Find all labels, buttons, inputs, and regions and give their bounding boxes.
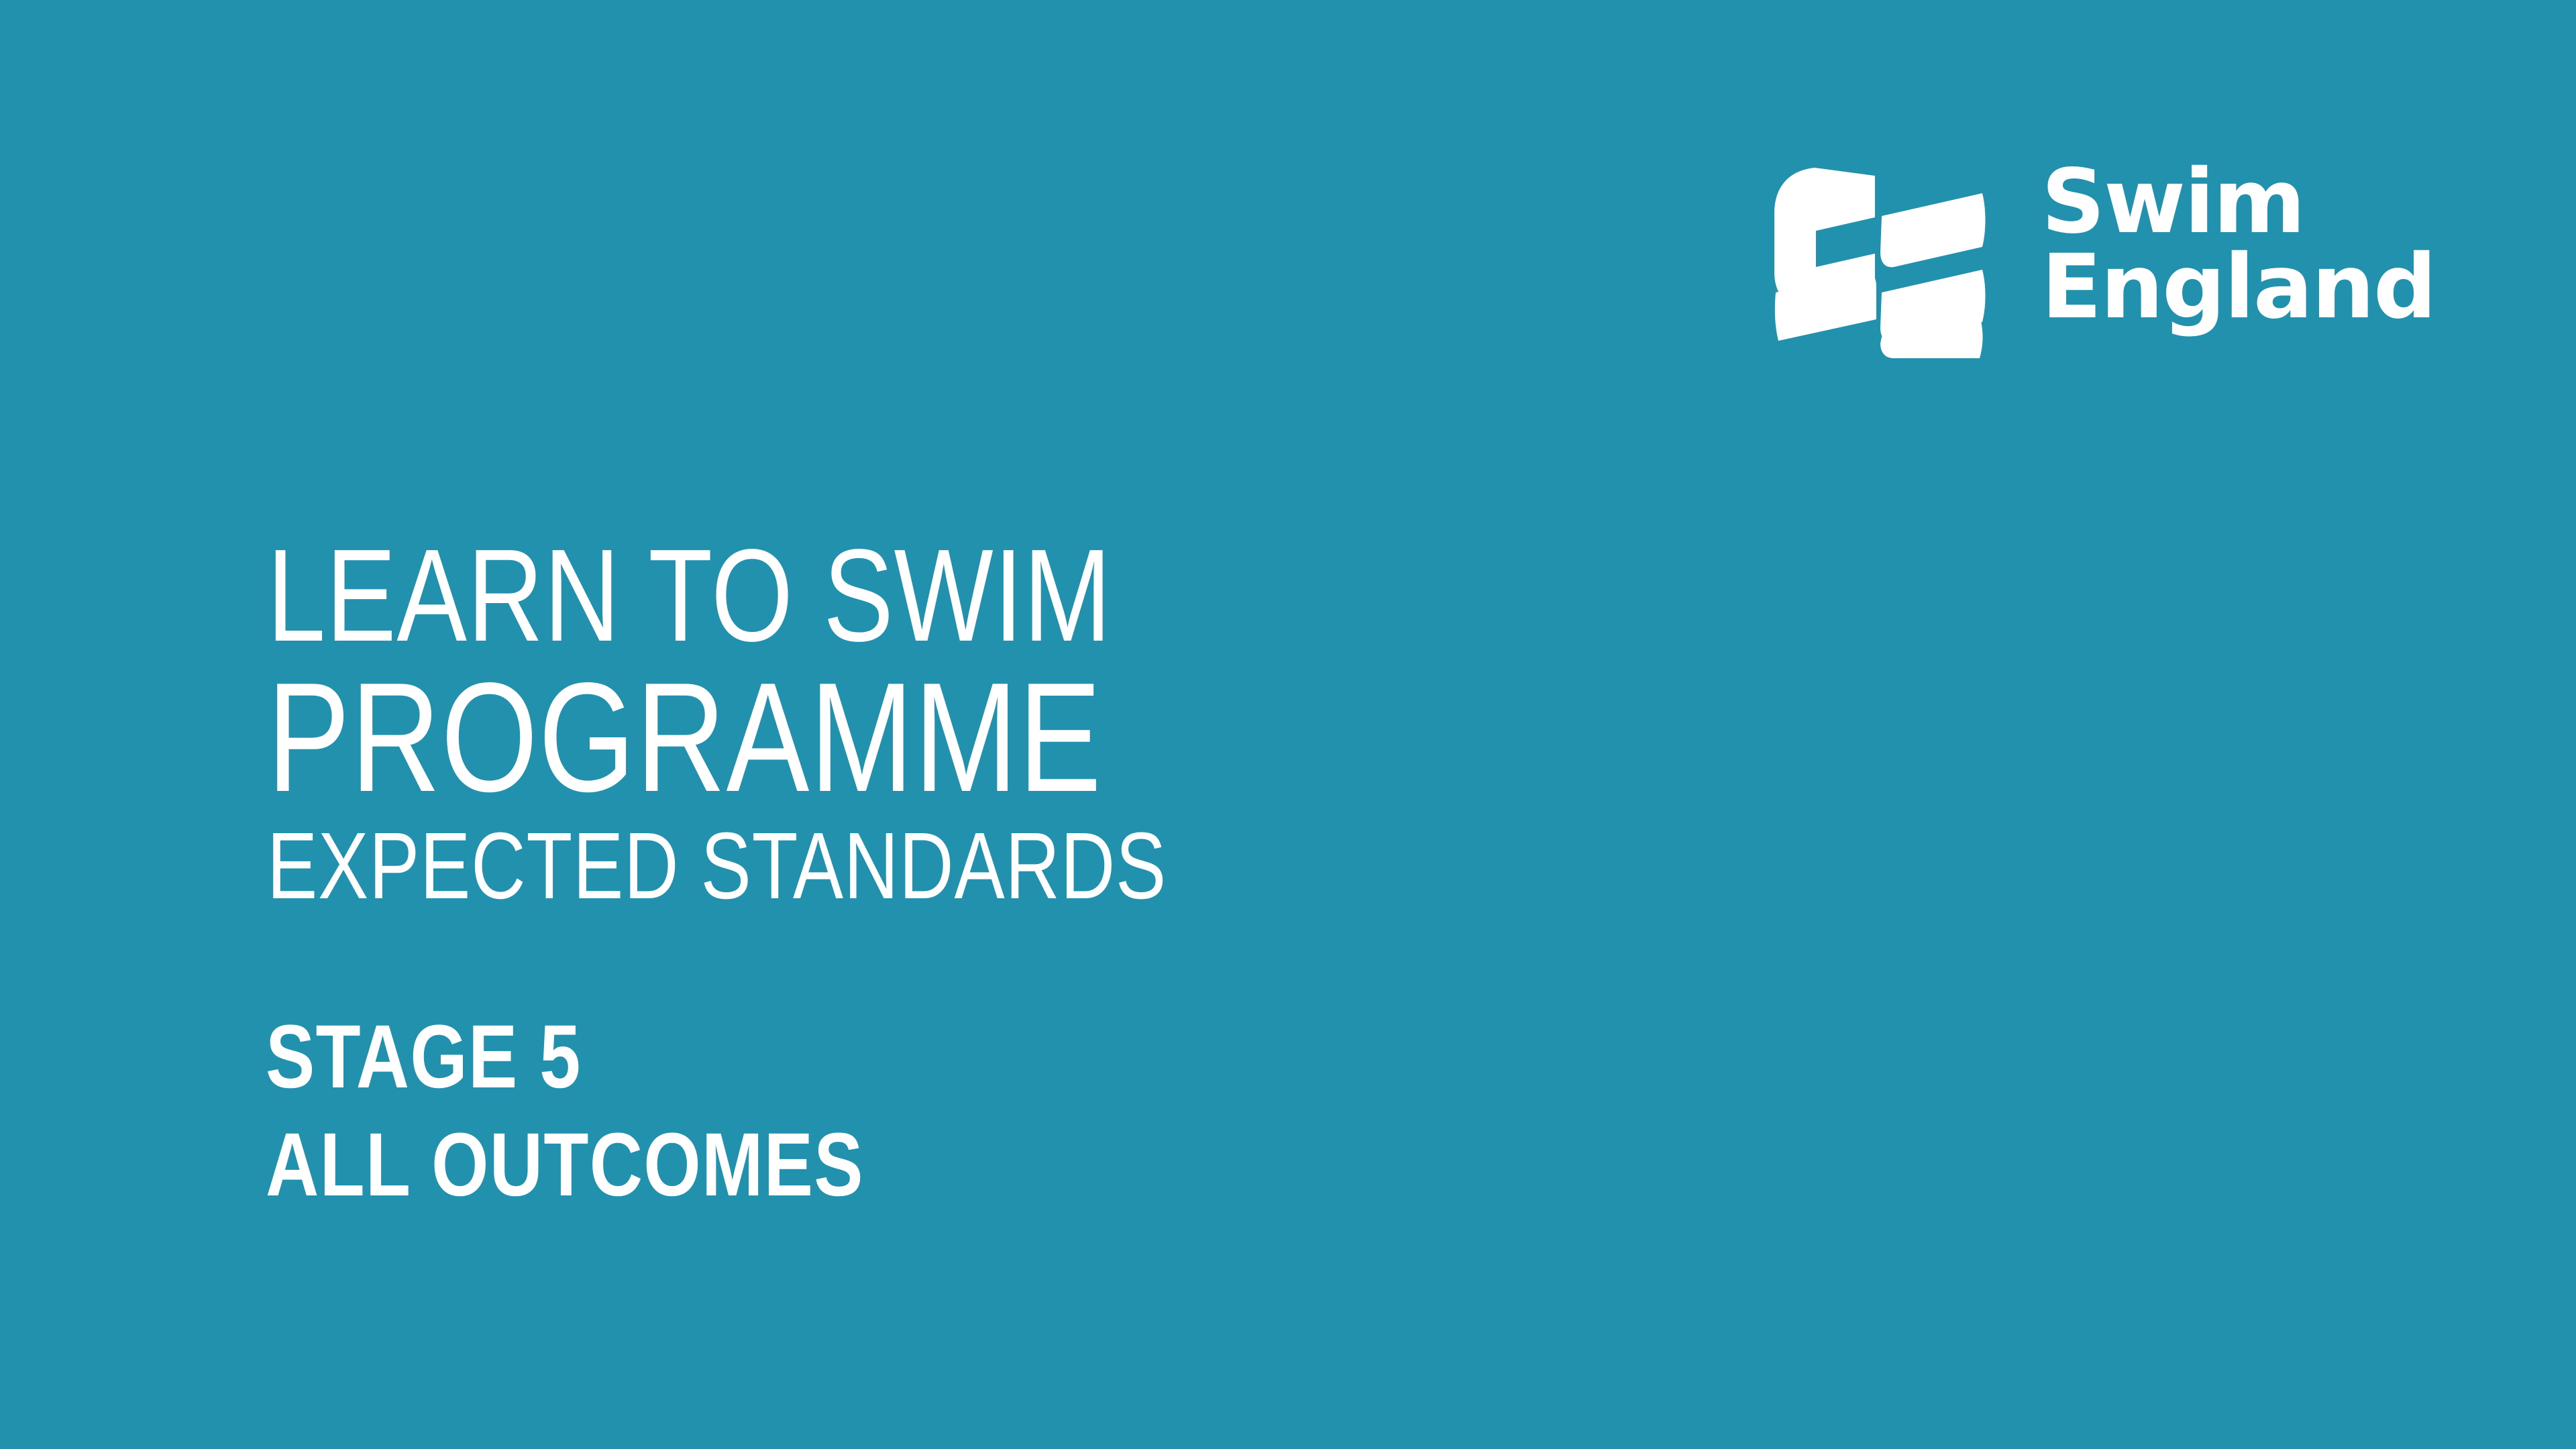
- swim-england-logo-mark-icon: [1774, 161, 1989, 359]
- title-line-programme: PROGRAMME: [267, 661, 1340, 814]
- title-slide: Swim England LEARN TO SWIM PROGRAMME EXP…: [0, 0, 2576, 1449]
- brand-wordmark-line-swim: Swim: [2041, 160, 2435, 245]
- stage-block: STAGE 5 ALL OUTCOMES: [266, 1003, 1607, 1219]
- brand-lockup: Swim England: [1774, 161, 2432, 366]
- brand-wordmark: Swim England: [2041, 160, 2435, 329]
- stage-line-all-outcomes: ALL OUTCOMES: [266, 1111, 1366, 1219]
- stage-line-stage-number: STAGE 5: [266, 1003, 1366, 1111]
- title-line-expected-standards: EXPECTED STANDARDS: [267, 814, 1340, 916]
- title-line-learn-to-swim: LEARN TO SWIM: [267, 530, 1340, 661]
- brand-wordmark-line-england: England: [2041, 245, 2435, 330]
- programme-title-block: LEARN TO SWIM PROGRAMME EXPECTED STANDAR…: [267, 530, 1609, 916]
